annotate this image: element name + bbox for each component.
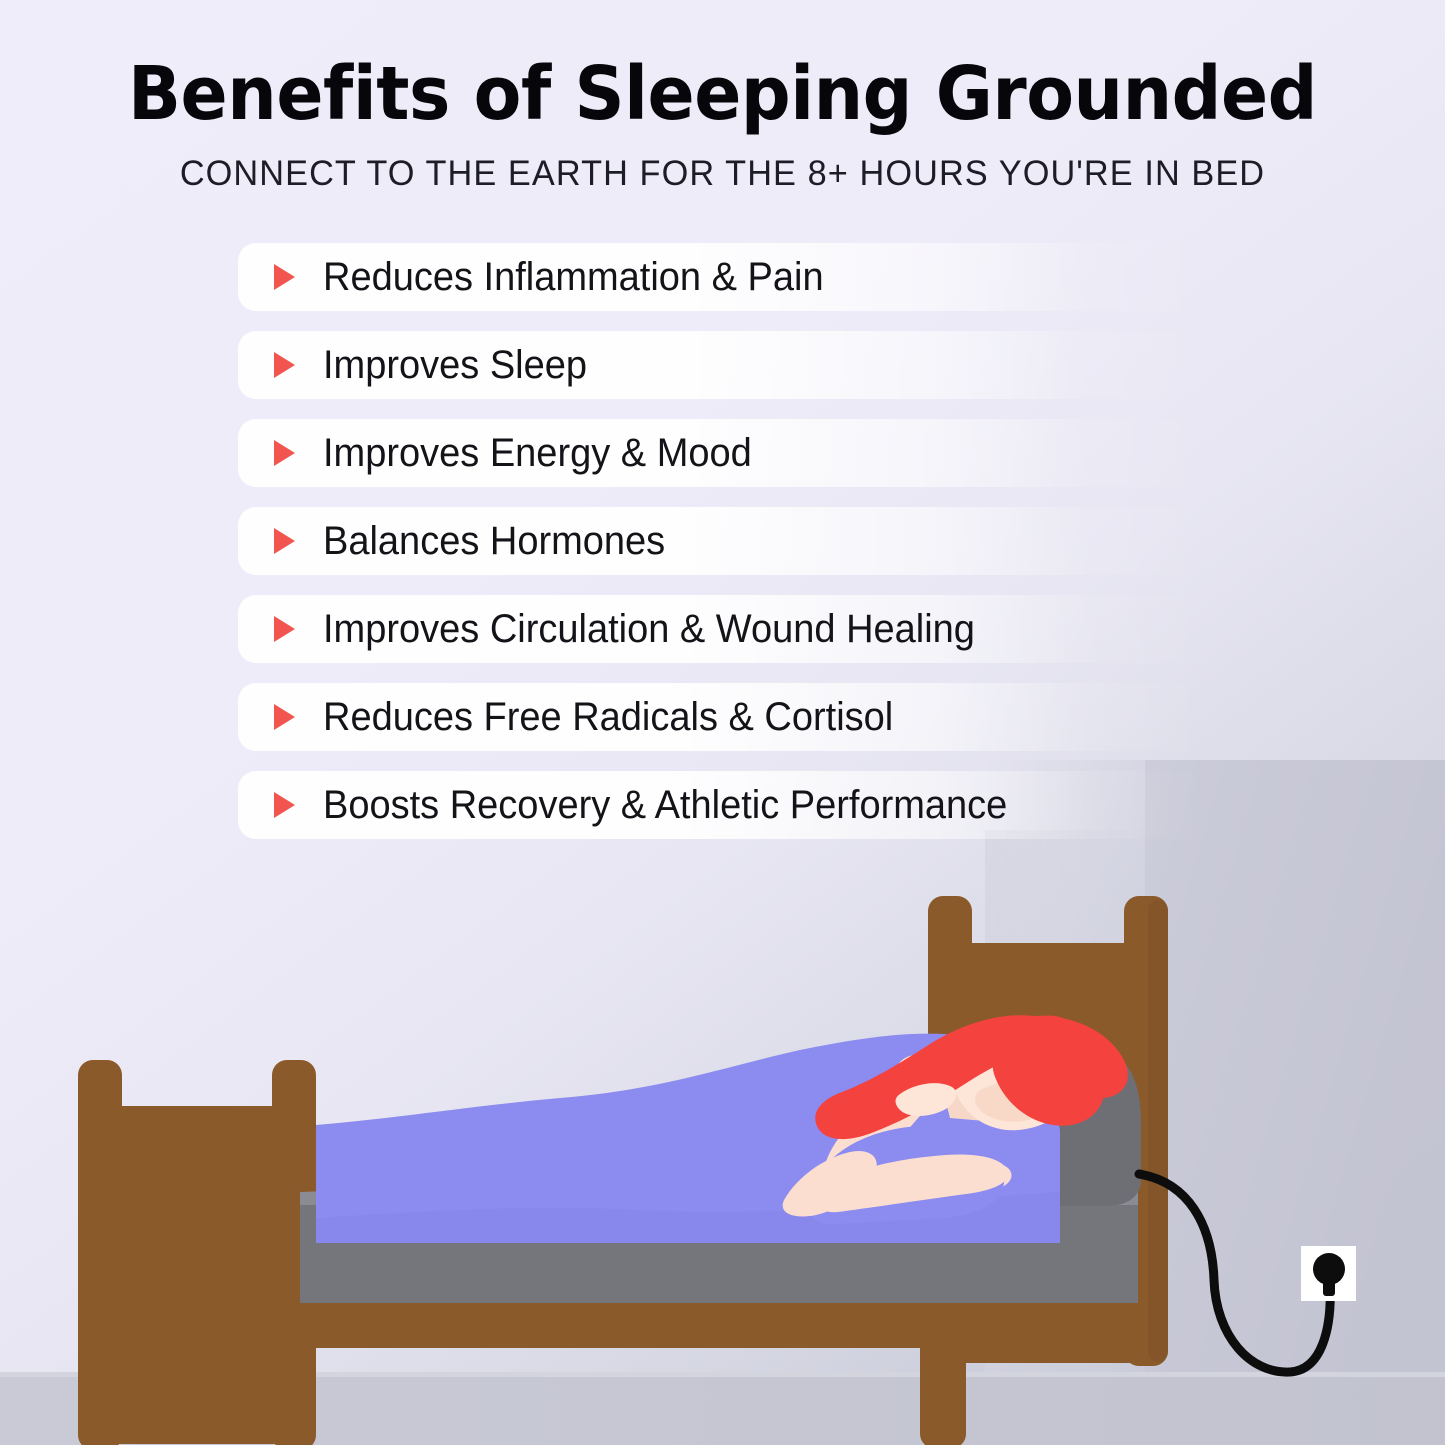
benefit-label: Improves Sleep bbox=[323, 343, 587, 388]
bed-leg bbox=[920, 1300, 966, 1445]
page-subtitle: CONNECT TO THE EARTH FOR THE 8+ HOURS YO… bbox=[14, 132, 1430, 194]
benefit-item-7[interactable]: Boosts Recovery & Athletic Performance bbox=[238, 771, 1206, 839]
wall-outlet[interactable] bbox=[1301, 1246, 1356, 1301]
benefit-item-6[interactable]: Reduces Free Radicals & Cortisol bbox=[238, 683, 1206, 751]
plug-prong bbox=[1323, 1278, 1335, 1296]
triangle-right-icon bbox=[274, 440, 295, 466]
benefit-label: Improves Energy & Mood bbox=[323, 431, 752, 476]
page-title: Benefits of Sleeping Grounded bbox=[43, 0, 1401, 132]
triangle-right-icon bbox=[274, 616, 295, 642]
benefit-label: Balances Hormones bbox=[323, 519, 665, 564]
benefit-label: Reduces Free Radicals & Cortisol bbox=[323, 695, 893, 740]
benefit-label: Boosts Recovery & Athletic Performance bbox=[323, 783, 1007, 828]
benefit-item-4[interactable]: Balances Hormones bbox=[238, 507, 1206, 575]
benefit-label: Improves Circulation & Wound Healing bbox=[323, 607, 975, 652]
bed-footboard bbox=[78, 1060, 316, 1445]
benefit-item-2[interactable]: Improves Sleep bbox=[238, 331, 1206, 399]
benefits-list: Reduces Inflammation & Pain Improves Sle… bbox=[238, 243, 1228, 859]
triangle-right-icon bbox=[274, 264, 295, 290]
benefit-item-3[interactable]: Improves Energy & Mood bbox=[238, 419, 1206, 487]
triangle-right-icon bbox=[274, 352, 295, 378]
triangle-right-icon bbox=[274, 704, 295, 730]
benefit-item-1[interactable]: Reduces Inflammation & Pain bbox=[238, 243, 1206, 311]
triangle-right-icon bbox=[274, 528, 295, 554]
benefit-label: Reduces Inflammation & Pain bbox=[323, 255, 824, 300]
poster-header: Benefits of Sleeping Grounded CONNECT TO… bbox=[0, 0, 1445, 194]
infographic-poster: Benefits of Sleeping Grounded CONNECT TO… bbox=[0, 0, 1445, 1445]
benefit-item-5[interactable]: Improves Circulation & Wound Healing bbox=[238, 595, 1206, 663]
triangle-right-icon bbox=[274, 792, 295, 818]
